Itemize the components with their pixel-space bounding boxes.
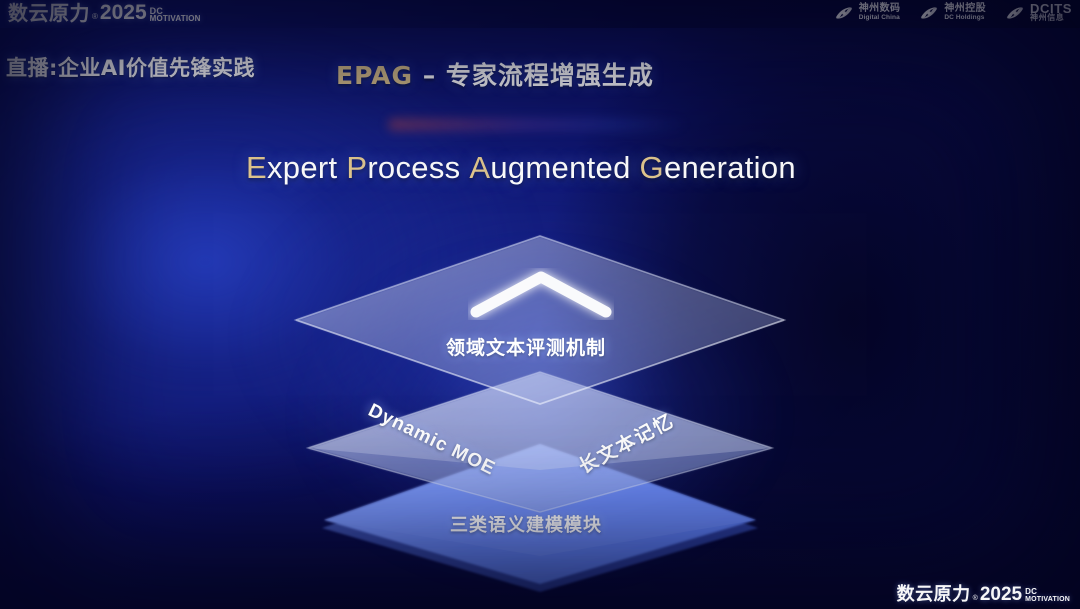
logo-dcits-text: DCITS 神州信息 (1030, 4, 1072, 22)
slide-canvas: 数云原力 ® 2025 DC MOTIVATION 神州数码 Digital C… (0, 0, 1080, 609)
brand-dc-line2: MOTIVATION (150, 15, 201, 23)
brand-year: 2025 (100, 2, 147, 24)
logo-digital-china: 神州数码 Digital China (833, 3, 901, 23)
logo-label-en: DC Holdings (944, 13, 986, 22)
background-shade-bottom (0, 384, 1080, 609)
subtitle-initial-a: A (469, 150, 490, 185)
brand-registered: ® (92, 10, 98, 24)
title-chinese: 专家流程增强生成 (446, 61, 654, 90)
subtitle-word-expert: xpert (267, 150, 337, 185)
subtitle-initial-e: E (246, 150, 267, 185)
subtitle-word-generation: eneration (664, 150, 796, 185)
swirl-logo-icon (1004, 3, 1026, 23)
logo-label-en: DCITS (1030, 4, 1072, 13)
logo-dc-holdings-text: 神州控股 DC Holdings (944, 4, 986, 22)
footer-brand-cn: 数云原力 (897, 585, 971, 605)
subtitle-word-process: rocess (367, 150, 460, 185)
footer-brand-year: 2025 (980, 585, 1022, 605)
logo-label-cn: 神州数码 (859, 4, 901, 13)
subtitle-initial-p: P (346, 150, 367, 185)
brand-logo-header: 数云原力 ® 2025 DC MOTIVATION (8, 2, 201, 24)
page-title: EPAG – 专家流程增强生成 (336, 56, 654, 92)
logo-label-cn: 神州控股 (944, 4, 986, 13)
footer-watermark: 数云原力 ® 2025 DC MOTIVATION (897, 585, 1070, 605)
logo-dcits: DCITS 神州信息 (1004, 3, 1072, 23)
footer-dc-line2: MOTIVATION (1025, 596, 1070, 604)
subtitle-initial-g: G (640, 150, 664, 185)
brand-dc-motivation: DC MOTIVATION (150, 7, 201, 24)
title-separator: – (413, 61, 446, 90)
logo-digital-china-text: 神州数码 Digital China (859, 4, 901, 22)
footer-brand-registered: ® (973, 593, 978, 605)
logo-label-en: Digital China (859, 13, 901, 22)
page-subtitle: Expert Process Augmented Generation (246, 150, 796, 186)
logo-label-cn: 神州信息 (1030, 13, 1072, 22)
title-acronym: EPAG (336, 61, 413, 90)
swirl-logo-icon (918, 3, 940, 23)
gradient-divider (392, 122, 682, 127)
swirl-logo-icon (833, 3, 855, 23)
brand-name-cn: 数云原力 (8, 2, 90, 24)
subtitle-word-augmented: ugmented (490, 150, 630, 185)
live-broadcast-strap: 直播:企业AI价值先锋实践 (6, 52, 255, 82)
logo-dc-holdings: 神州控股 DC Holdings (918, 3, 986, 23)
footer-brand-dc: DC MOTIVATION (1025, 588, 1070, 605)
partner-logo-row: 神州数码 Digital China 神州控股 DC Holdings DC (833, 3, 1072, 23)
footer-dc-line1: DC (1025, 588, 1070, 596)
